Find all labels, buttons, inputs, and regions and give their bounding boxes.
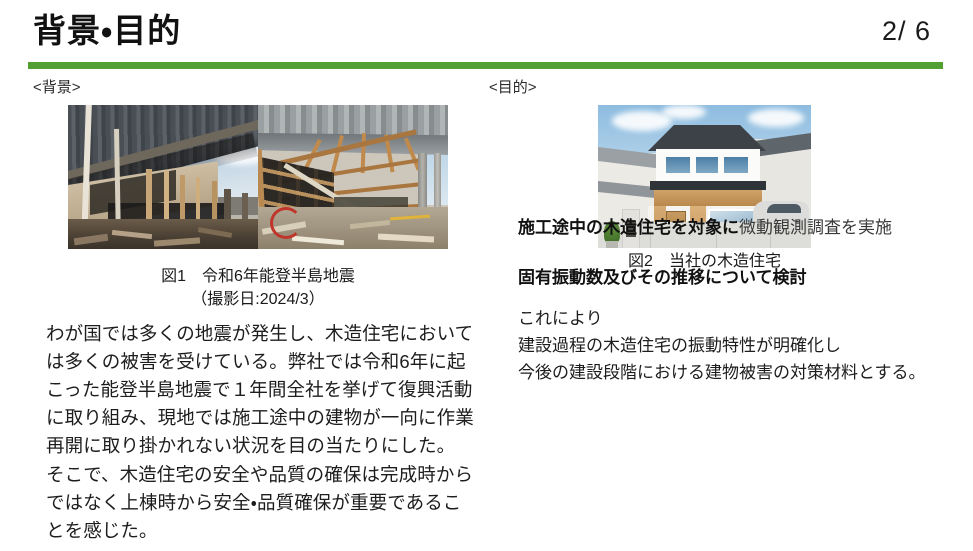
background-paragraph: わが国では多くの地震が発生し、木造住宅においては多くの被害を受けている。弊社では… — [46, 320, 476, 545]
conclusion-line-2-bold: 固有振動数及びその推移について検討 — [518, 268, 807, 287]
purpose-outcome-block: これにより 建設過程の木造住宅の振動特性が明確化し 今後の建設段階における建物被… — [518, 305, 958, 387]
slide-header: 背景・目的 2/ 6 — [0, 0, 973, 70]
cloud — [662, 105, 706, 119]
car-window — [767, 204, 801, 213]
conclusion-line-1: 施工途中の木造住宅を対象に微動観測調査を実施 — [518, 215, 950, 241]
section-label-background: <背景> — [33, 76, 81, 97]
red-hose-coil — [270, 207, 302, 239]
page-number: 2/ 6 — [882, 16, 931, 47]
slide: 背景・目的 2/ 6 <背景> <目的> — [0, 0, 973, 551]
upper-window — [724, 157, 748, 173]
figure-1-caption: 図1 令和6年能登半島地震 （撮影日:2024/3） — [68, 265, 448, 311]
cloud — [748, 109, 804, 127]
upper-window — [696, 157, 718, 173]
purpose-conclusion-block: 施工途中の木造住宅を対象に微動観測調査を実施 固有振動数及びその推移について検討 — [518, 215, 950, 314]
section-label-purpose: <目的> — [489, 76, 537, 97]
entrance-canopy — [650, 181, 766, 190]
upper-window — [666, 157, 690, 173]
conclusion-line-1-normal: 微動観測調査を実施 — [739, 218, 892, 237]
background-column: 図1 令和6年能登半島地震 （撮影日:2024/3） わが国では多くの地震が発生… — [0, 95, 487, 551]
photo-collapsed-house-interior — [258, 105, 448, 249]
page-title: 背景・目的 — [33, 11, 181, 51]
photo-damaged-house-exterior — [68, 105, 258, 249]
outcome-text: これにより 建設過程の木造住宅の振動特性が明確化し 今後の建設段階における建物被… — [518, 305, 958, 387]
conclusion-line-2: 固有振動数及びその推移について検討 — [518, 265, 950, 291]
figure-1-photo-group — [68, 105, 448, 249]
background-body-text: わが国では多くの地震が発生し、木造住宅においては多くの被害を受けている。弊社では… — [46, 320, 476, 545]
wood-fascia — [654, 190, 762, 206]
conclusion-line-1-bold: 施工途中の木造住宅を対象に — [518, 218, 739, 237]
title-underline-rule — [28, 62, 943, 69]
